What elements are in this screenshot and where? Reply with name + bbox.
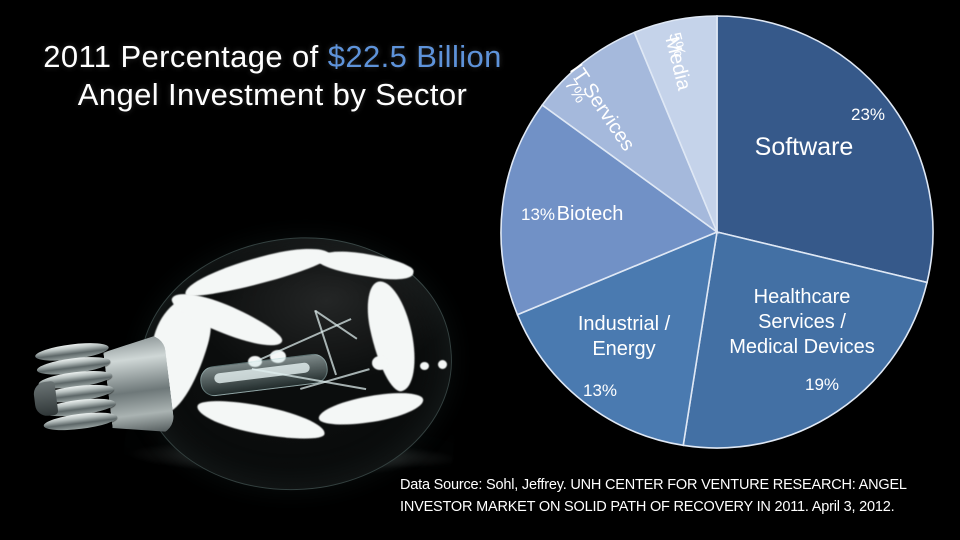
pie-slice-label: Healthcare (754, 286, 851, 308)
presentation-slide: 2011 Percentage of $22.5 Billion Angel I… (0, 0, 960, 540)
glass-highlight (438, 360, 447, 369)
pie-chart: Software23%HealthcareServices /Medical D… (500, 15, 934, 449)
bulb-base-cone (102, 333, 176, 440)
pie-slice-label: Software (755, 133, 854, 161)
footnote-line-2: INVESTOR MARKET ON SOLID PATH OF RECOVER… (400, 496, 960, 518)
title-line-1: 2011 Percentage of $22.5 Billion (0, 38, 545, 76)
pie-slice-label: Biotech (557, 203, 624, 225)
pie-slice-percent: 13% (521, 205, 555, 224)
title-line-1-prefix: 2011 Percentage of (43, 39, 328, 74)
pie-chart-svg: Software23%HealthcareServices /Medical D… (500, 15, 934, 449)
pie-slice-group (501, 16, 933, 448)
footnote-line-1: Data Source: Sohl, Jeffrey. UNH CENTER F… (400, 474, 960, 496)
pie-slice-label: Services / (758, 311, 846, 333)
pie-slice-percent: 23% (851, 105, 885, 124)
bulb-screw-base (28, 333, 160, 451)
page-title: 2011 Percentage of $22.5 Billion Angel I… (0, 38, 545, 114)
pie-slice-label: Industrial / (578, 313, 671, 335)
glass-highlight (420, 362, 429, 370)
pie-slice-percent: 19% (805, 375, 839, 394)
data-source-footnote: Data Source: Sohl, Jeffrey. UNH CENTER F… (400, 474, 960, 518)
pie-slice-percent: 13% (583, 381, 617, 400)
pie-slice-label: Energy (592, 338, 655, 360)
glass-highlight (372, 356, 388, 370)
pie-slice-label: Medical Devices (729, 336, 875, 358)
title-line-2: Angel Investment by Sector (0, 76, 545, 114)
title-amount-accent: $22.5 Billion (328, 39, 502, 74)
bulb-base-contact-tip (32, 381, 58, 417)
